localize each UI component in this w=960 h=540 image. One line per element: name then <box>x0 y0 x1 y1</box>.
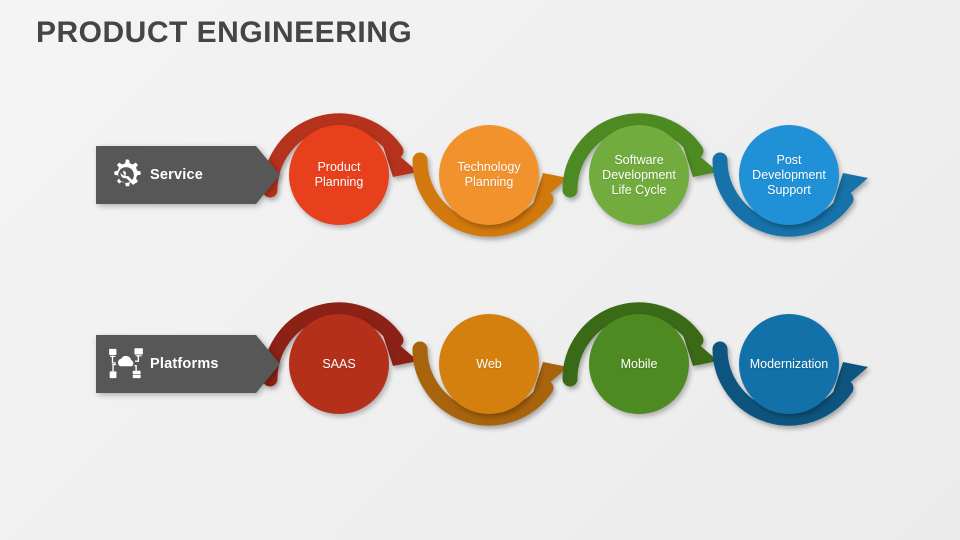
category-tag-label: Platforms <box>150 356 219 372</box>
node-circle: SAAS <box>289 314 389 414</box>
category-tag-service[interactable]: Service <box>96 146 256 204</box>
gear-wrench-icon <box>108 157 144 193</box>
node-label: Mobile <box>621 357 658 372</box>
node-label: Software Development Life Cycle <box>602 153 676 198</box>
process-node-mobile[interactable]: Mobile <box>589 314 689 414</box>
process-node-post-development-support[interactable]: Post Development Support <box>739 125 839 225</box>
slide-canvas: PRODUCT ENGINEERING <box>0 0 960 540</box>
node-label: SAAS <box>322 357 355 372</box>
node-circle: Mobile <box>589 314 689 414</box>
process-node-web[interactable]: Web <box>439 314 539 414</box>
node-label: Technology Planning <box>457 160 520 190</box>
node-circle: Product Planning <box>289 125 389 225</box>
cloud-network-icon <box>108 346 144 382</box>
process-node-technology-planning[interactable]: Technology Planning <box>439 125 539 225</box>
node-label: Product Planning <box>315 160 364 190</box>
node-circle: Software Development Life Cycle <box>589 125 689 225</box>
chevron-tip <box>256 146 280 204</box>
process-node-saas[interactable]: SAAS <box>289 314 389 414</box>
node-circle: Post Development Support <box>739 125 839 225</box>
node-label: Post Development Support <box>752 153 826 198</box>
nodes-layer: Service <box>0 0 960 540</box>
node-circle: Modernization <box>739 314 839 414</box>
category-tag-label: Service <box>150 167 203 183</box>
node-circle: Technology Planning <box>439 125 539 225</box>
category-tag-platforms[interactable]: Platforms <box>96 335 256 393</box>
node-circle: Web <box>439 314 539 414</box>
node-label: Modernization <box>750 357 829 372</box>
process-node-product-planning[interactable]: Product Planning <box>289 125 389 225</box>
chevron-tip <box>256 335 280 393</box>
process-node-modernization[interactable]: Modernization <box>739 314 839 414</box>
node-label: Web <box>476 357 501 372</box>
process-node-software-development-life-cycle[interactable]: Software Development Life Cycle <box>589 125 689 225</box>
